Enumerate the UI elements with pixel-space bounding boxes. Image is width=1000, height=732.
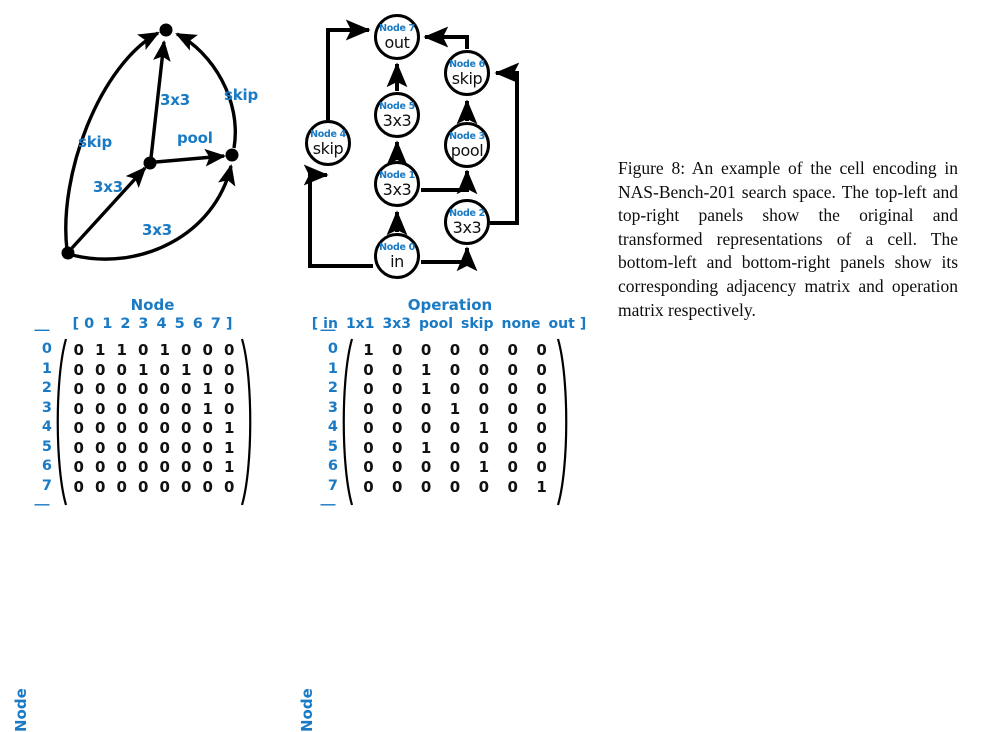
col-header-2: 2	[120, 316, 130, 332]
node-6-id: Node 6	[449, 60, 485, 70]
matrix-cell-6-0: 0	[354, 458, 383, 478]
row-header-6: 6	[318, 457, 338, 477]
matrix-cell-5-1: 0	[383, 439, 412, 459]
row-header-2: 2	[318, 379, 338, 399]
matrix-cell-3-2: 0	[111, 400, 133, 420]
matrix-cell-1-2: 0	[111, 361, 133, 381]
matrix-cell-6-3: 0	[441, 458, 470, 478]
row-header-3: 3	[318, 399, 338, 419]
row-header-1: 1	[32, 360, 52, 380]
matrix-cell-3-1: 0	[383, 400, 412, 420]
edge-n4-n7	[328, 30, 369, 120]
matrix-cell-0-0: 1	[354, 341, 383, 361]
matrix-cell-5-0: 0	[354, 439, 383, 459]
edge-n0-n2	[421, 248, 467, 262]
matrix-cell-3-5: 0	[498, 400, 527, 420]
matrix-cell-4-1: 0	[90, 419, 112, 439]
node-1-op: 3x3	[383, 181, 412, 198]
matrix-cell-1-0: 0	[354, 361, 383, 381]
graph-node-3[interactable]: Node 3 pool	[444, 122, 490, 168]
matrix-cell-5-2: 1	[412, 439, 441, 459]
matrix-cell-3-4: 0	[154, 400, 176, 420]
matrix-cell-5-5: 0	[498, 439, 527, 459]
matrix-cell-4-6: 0	[197, 419, 219, 439]
node-1-id: Node 1	[379, 171, 415, 181]
transformed-cell-svg	[0, 0, 600, 290]
matrix-cell-4-3: 0	[441, 419, 470, 439]
matrix-cell-4-4: 0	[154, 419, 176, 439]
graph-node-4[interactable]: Node 4 skip	[305, 120, 351, 166]
edge-n0-n4	[310, 175, 373, 266]
matrix-cell-5-0: 0	[68, 439, 90, 459]
matrix-cell-1-3: 1	[133, 361, 155, 381]
row-header-5: 5	[318, 438, 338, 458]
adjacency-col-headers: [01234567]	[50, 316, 255, 332]
matrix-cell-7-4: 0	[469, 478, 498, 498]
matrix-cell-1-2: 1	[412, 361, 441, 381]
col-header-1: 1x1	[346, 316, 375, 332]
matrix-cell-7-6: 1	[527, 478, 556, 498]
node-4-id: Node 4	[310, 130, 346, 140]
matrix-cell-4-6: 0	[527, 419, 556, 439]
col-header-7: 7	[211, 316, 221, 332]
matrix-cell-3-0: 0	[354, 400, 383, 420]
matrix-cell-5-7: 1	[219, 439, 241, 459]
figure-caption: Figure 8: An example of the cell encodin…	[618, 157, 958, 322]
matrix-cell-6-4: 1	[469, 458, 498, 478]
graph-node-6[interactable]: Node 6 skip	[444, 50, 490, 96]
col-header-3: 3	[138, 316, 148, 332]
matrix-cell-0-3: 0	[133, 341, 155, 361]
matrix-cell-1-7: 0	[219, 361, 241, 381]
matrix-cell-0-0: 0	[68, 341, 90, 361]
node-0-op: in	[390, 253, 404, 270]
matrix-cell-3-6: 0	[527, 400, 556, 420]
node-3-op: pool	[451, 142, 484, 159]
matrix-cell-6-1: 0	[90, 458, 112, 478]
matrix-cell-1-6: 0	[197, 361, 219, 381]
matrix-cell-4-1: 0	[383, 419, 412, 439]
edge-n6-n7	[425, 37, 467, 49]
bracket-open: [	[312, 316, 318, 332]
matrix-cell-6-2: 0	[111, 458, 133, 478]
matrix-cell-4-2: 0	[111, 419, 133, 439]
matrix-cell-1-1: 0	[90, 361, 112, 381]
row-header-6: 6	[32, 457, 52, 477]
row-header-1: 1	[318, 360, 338, 380]
matrix-cell-4-5: 0	[498, 419, 527, 439]
matrix-cell-0-5: 0	[498, 341, 527, 361]
matrix-cell-2-6: 0	[527, 380, 556, 400]
adjacency-matrix-title: Node	[50, 296, 255, 314]
matrix-cell-7-6: 0	[197, 478, 219, 498]
matrix-cell-0-1: 0	[383, 341, 412, 361]
matrix-cell-0-5: 0	[176, 341, 198, 361]
row-bracket-top: ‾‾	[32, 332, 52, 340]
matrix-cell-0-6: 0	[197, 341, 219, 361]
matrix-cell-3-3: 0	[133, 400, 155, 420]
node-0-id: Node 0	[379, 243, 415, 253]
matrix-cell-7-2: 0	[111, 478, 133, 498]
col-header-6: out	[549, 316, 575, 332]
matrix-cell-1-4: 0	[154, 361, 176, 381]
operation-matrix-panel: Operation [in1x13x3poolskipnoneout] Node…	[300, 296, 590, 526]
matrix-cell-0-4: 0	[469, 341, 498, 361]
matrix-cell-2-3: 0	[441, 380, 470, 400]
matrix-cell-1-5: 0	[498, 361, 527, 381]
matrix-cell-2-7: 0	[219, 380, 241, 400]
matrix-cell-7-5: 0	[498, 478, 527, 498]
matrix-cell-6-5: 0	[176, 458, 198, 478]
node-4-op: skip	[313, 140, 344, 157]
node-5-id: Node 5	[379, 102, 415, 112]
adjacency-side-label: Node	[14, 674, 28, 732]
matrix-cell-2-0: 0	[354, 380, 383, 400]
edge-n1-n3	[421, 171, 467, 190]
matrix-cell-6-7: 1	[219, 458, 241, 478]
graph-node-2[interactable]: Node 2 3x3	[444, 199, 490, 245]
matrix-cell-0-2: 0	[412, 341, 441, 361]
matrix-cell-5-1: 0	[90, 439, 112, 459]
matrix-cell-0-4: 1	[154, 341, 176, 361]
matrix-cell-3-6: 1	[197, 400, 219, 420]
edge-n2-n6	[490, 73, 517, 223]
operation-matrix-title: Operation	[330, 296, 570, 314]
matrix-cell-2-1: 0	[90, 380, 112, 400]
bracket-open: [	[72, 316, 79, 332]
matrix-cell-6-0: 0	[68, 458, 90, 478]
row-header-2: 2	[32, 379, 52, 399]
matrix-cell-0-1: 1	[90, 341, 112, 361]
matrix-cell-7-2: 0	[412, 478, 441, 498]
col-header-5: none	[502, 316, 541, 332]
matrix-cell-5-4: 0	[469, 439, 498, 459]
matrix-cell-7-3: 0	[441, 478, 470, 498]
matrix-cell-5-5: 0	[176, 439, 198, 459]
matrix-cell-6-5: 0	[498, 458, 527, 478]
operation-matrix-grid: 1000000001000000100000001000000010000100…	[354, 341, 556, 497]
matrix-cell-6-2: 0	[412, 458, 441, 478]
matrix-cell-2-1: 0	[383, 380, 412, 400]
matrix-cell-0-2: 1	[111, 341, 133, 361]
figure-canvas: skip 3x3 3x3 3x3 pool skip	[0, 0, 1000, 556]
matrix-cell-2-5: 0	[498, 380, 527, 400]
matrix-cell-3-5: 0	[176, 400, 198, 420]
matrix-cell-2-6: 1	[197, 380, 219, 400]
matrix-cell-7-0: 0	[68, 478, 90, 498]
col-header-2: 3x3	[382, 316, 411, 332]
col-header-3: pool	[419, 316, 453, 332]
matrix-cell-2-2: 1	[412, 380, 441, 400]
matrix-cell-3-4: 0	[469, 400, 498, 420]
matrix-cell-3-7: 0	[219, 400, 241, 420]
adjacency-row-headers: ‾‾ 01234567 __	[32, 332, 52, 501]
graph-node-5[interactable]: Node 5 3x3	[374, 92, 420, 138]
matrix-cell-3-2: 0	[412, 400, 441, 420]
matrix-cell-0-7: 0	[219, 341, 241, 361]
bracket-close: ]	[226, 316, 233, 332]
node-7-id: Node 7	[379, 24, 415, 34]
transformed-cell-panel: Node 7 out Node 6 skip Node 5 3x3 Node 3…	[0, 0, 600, 290]
matrix-cell-6-6: 0	[527, 458, 556, 478]
row-bracket-bottom: __	[318, 493, 338, 501]
matrix-cell-2-0: 0	[68, 380, 90, 400]
col-header-6: 6	[193, 316, 203, 332]
matrix-cell-4-3: 0	[133, 419, 155, 439]
operation-row-headers: ‾‾ 01234567 __	[318, 332, 338, 501]
matrix-cell-5-4: 0	[154, 439, 176, 459]
matrix-cell-1-3: 0	[441, 361, 470, 381]
matrix-cell-1-4: 0	[469, 361, 498, 381]
row-header-4: 4	[32, 418, 52, 438]
matrix-cell-2-4: 0	[154, 380, 176, 400]
matrix-cell-6-4: 0	[154, 458, 176, 478]
col-header-5: 5	[175, 316, 185, 332]
matrix-cell-4-5: 0	[176, 419, 198, 439]
matrix-cell-7-4: 0	[154, 478, 176, 498]
node-7-op: out	[384, 34, 409, 51]
col-header-0: 0	[84, 316, 94, 332]
row-header-4: 4	[318, 418, 338, 438]
matrix-cell-3-0: 0	[68, 400, 90, 420]
matrix-cell-5-3: 0	[133, 439, 155, 459]
matrix-cell-4-0: 0	[354, 419, 383, 439]
matrix-cell-2-5: 0	[176, 380, 198, 400]
matrix-cell-3-3: 1	[441, 400, 470, 420]
matrix-cell-4-0: 0	[68, 419, 90, 439]
matrix-cell-5-6: 0	[197, 439, 219, 459]
matrix-cell-2-2: 0	[111, 380, 133, 400]
matrix-cell-1-1: 0	[383, 361, 412, 381]
matrix-cell-6-3: 0	[133, 458, 155, 478]
matrix-cell-4-4: 1	[469, 419, 498, 439]
matrix-cell-5-2: 0	[111, 439, 133, 459]
matrix-cell-4-7: 1	[219, 419, 241, 439]
matrix-cell-5-6: 0	[527, 439, 556, 459]
node-2-op: 3x3	[453, 219, 482, 236]
matrix-cell-7-3: 0	[133, 478, 155, 498]
matrix-cell-2-3: 0	[133, 380, 155, 400]
bracket-close: ]	[580, 316, 586, 332]
node-5-op: 3x3	[383, 112, 412, 129]
matrix-cell-7-0: 0	[354, 478, 383, 498]
matrix-cell-2-4: 0	[469, 380, 498, 400]
matrix-cell-1-6: 0	[527, 361, 556, 381]
node-6-op: skip	[452, 70, 483, 87]
row-header-5: 5	[32, 438, 52, 458]
matrix-cell-7-7: 0	[219, 478, 241, 498]
adjacency-matrix-grid: 0110100000010100000000100000001000000001…	[68, 341, 240, 497]
matrix-cell-6-1: 0	[383, 458, 412, 478]
graph-node-1[interactable]: Node 1 3x3	[374, 161, 420, 207]
col-header-1: 1	[102, 316, 112, 332]
matrix-cell-0-3: 0	[441, 341, 470, 361]
operation-col-headers: [in1x13x3poolskipnoneout]	[318, 316, 580, 332]
matrix-cell-7-1: 0	[383, 478, 412, 498]
graph-node-7[interactable]: Node 7 out	[374, 14, 420, 60]
col-header-4: skip	[461, 316, 493, 332]
matrix-cell-1-5: 1	[176, 361, 198, 381]
matrix-cell-6-6: 0	[197, 458, 219, 478]
graph-node-0[interactable]: Node 0 in	[374, 233, 420, 279]
matrix-cell-0-6: 0	[527, 341, 556, 361]
matrix-cell-7-5: 0	[176, 478, 198, 498]
row-bracket-top: ‾‾	[318, 332, 338, 340]
matrix-cell-4-2: 0	[412, 419, 441, 439]
row-header-3: 3	[32, 399, 52, 419]
node-3-id: Node 3	[449, 132, 485, 142]
operation-side-label: Node	[300, 674, 314, 732]
node-2-id: Node 2	[449, 209, 485, 219]
matrix-cell-7-1: 0	[90, 478, 112, 498]
row-bracket-bottom: __	[32, 493, 52, 501]
matrix-cell-5-3: 0	[441, 439, 470, 459]
adjacency-matrix-panel: Node [01234567] Node ‾‾ 01234567 __ 0110…	[10, 296, 270, 526]
matrix-cell-3-1: 0	[90, 400, 112, 420]
matrix-cell-1-0: 0	[68, 361, 90, 381]
col-header-4: 4	[157, 316, 167, 332]
